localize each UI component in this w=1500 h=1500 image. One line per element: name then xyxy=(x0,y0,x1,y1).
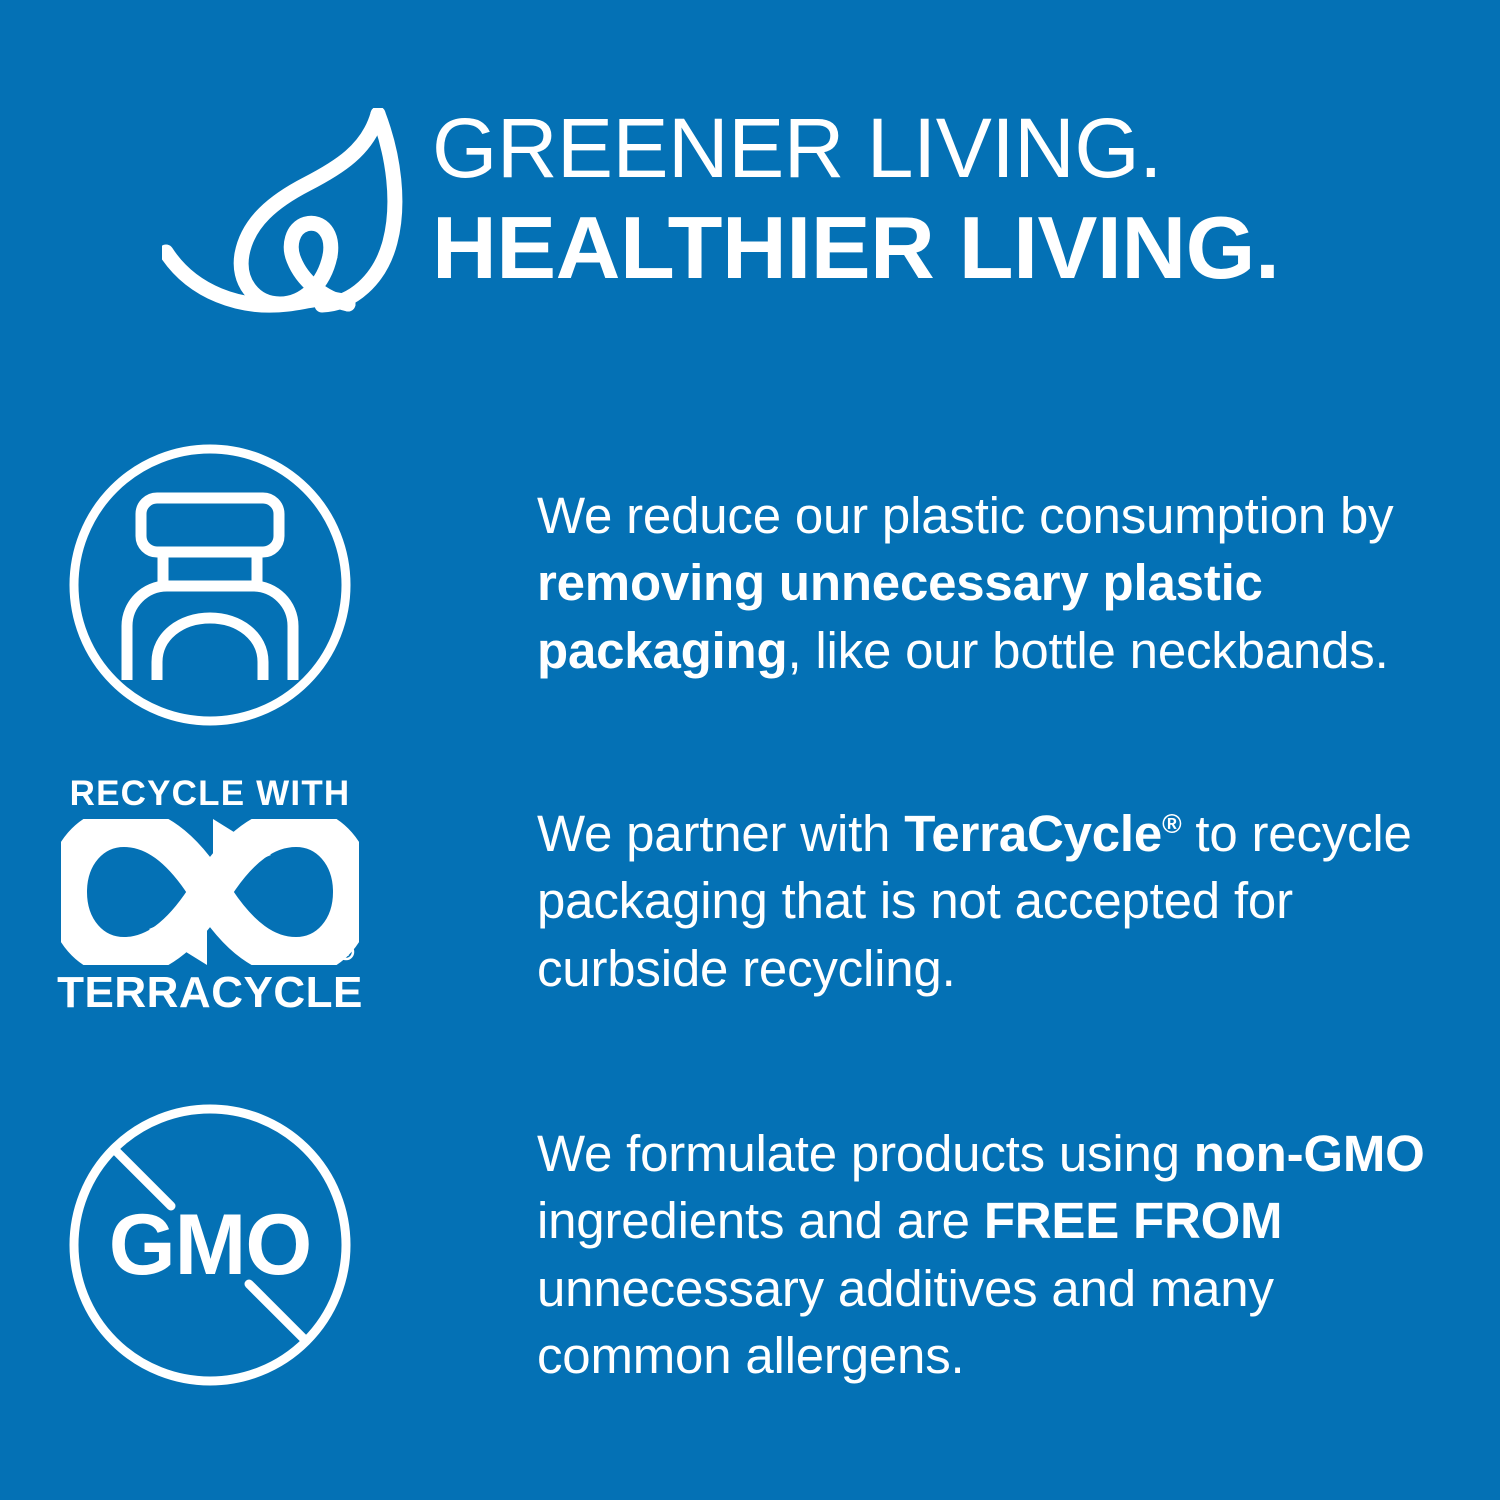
headline-block: GREENER LIVING. HEALTHIER LIVING. xyxy=(432,106,1472,292)
feature-row-terracycle: RECYCLE WITH R xyxy=(0,772,1500,1062)
icon-cell xyxy=(0,432,420,730)
infinity-recycle-arrows-icon: R xyxy=(61,819,359,965)
text-cell: We reduce our plastic consumption by rem… xyxy=(420,432,1500,684)
terracycle-logo: RECYCLE WITH R xyxy=(60,776,360,1015)
feature-row-plastic-reduction: We reduce our plastic consumption by rem… xyxy=(0,432,1500,742)
gmo-label: GMO xyxy=(65,1100,355,1390)
feature-text-non-gmo: We formulate products using non-GMO ingr… xyxy=(537,1120,1450,1389)
text-cell: We partner with TerraCycle® to recycle p… xyxy=(420,772,1500,1002)
promo-graphic: GREENER LIVING. HEALTHIER LIVING. We red… xyxy=(0,0,1500,1500)
svg-text:R: R xyxy=(343,948,350,958)
no-gmo-icon: GMO xyxy=(65,1100,355,1390)
headline-line-2: HEALTHIER LIVING. xyxy=(432,204,1493,292)
icon-cell: GMO xyxy=(0,1092,420,1390)
feature-text-terracycle: We partner with TerraCycle® to recycle p… xyxy=(537,800,1450,1002)
leaf-icon xyxy=(162,108,414,320)
bottle-neckband-circle-icon xyxy=(65,440,355,730)
headline-line-1: GREENER LIVING. xyxy=(432,106,1472,190)
text-cell: We formulate products using non-GMO ingr… xyxy=(420,1092,1500,1389)
icon-cell: RECYCLE WITH R xyxy=(0,772,420,1015)
feature-text-plastic-reduction: We reduce our plastic consumption by rem… xyxy=(537,482,1450,684)
terracycle-bottom-label: TERRACYCLE xyxy=(57,971,363,1015)
feature-row-non-gmo: GMO We formulate products using non-GMO … xyxy=(0,1092,1500,1402)
terracycle-top-label: RECYCLE WITH xyxy=(70,776,351,811)
header: GREENER LIVING. HEALTHIER LIVING. xyxy=(0,100,1500,330)
